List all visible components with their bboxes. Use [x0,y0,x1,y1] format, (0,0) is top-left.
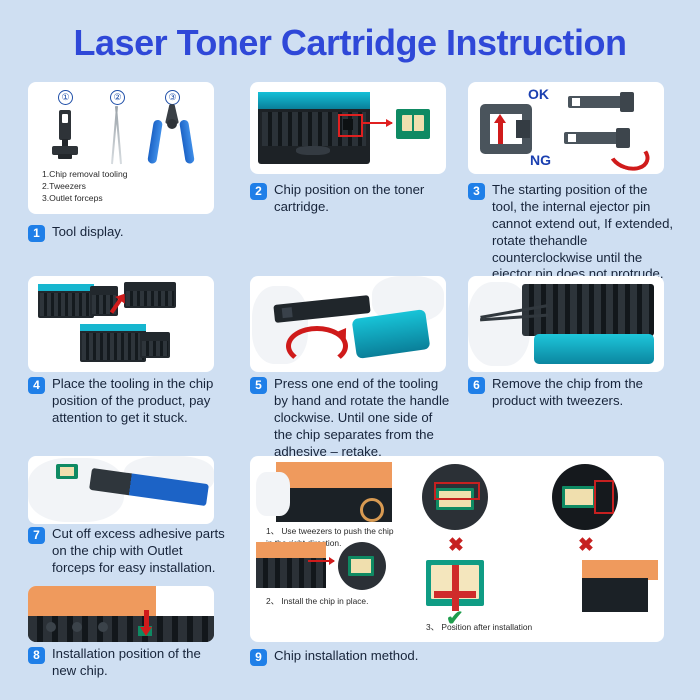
panel-3-caption: 3 The starting position of the tool, the… [468,182,674,283]
ng-label: NG [530,152,551,168]
panel-4-caption: 4 Place the tooling in the chip position… [28,376,224,427]
panel-6-image [468,276,664,372]
rotate-clockwise-arrow-icon [286,326,348,366]
instruction-sheet: Laser Toner Cartridge Instruction ① ② ③ … [0,0,700,700]
step-badge-1: 1 [28,225,45,242]
panel-2-caption-text: Chip position on the toner cartridge. [274,182,450,216]
tooling-placement-view-1 [38,284,94,318]
wrong-mark-icon-right: ✖ [578,536,594,555]
panel-8-image [28,586,214,642]
step-badge-8: 8 [28,647,45,664]
down-arrow-icon [144,610,149,628]
panel-9-caption: 9 Chip installation method. [250,648,510,666]
pointer-arrow-icon [362,122,392,124]
panel-5-caption-text: Press one end of the tooling by hand and… [274,376,450,460]
legend-item-2: 2.Tweezers [42,180,128,192]
tool-number-2: ② [110,90,125,105]
gloved-hand [468,282,530,366]
push-arrow-icon [308,560,334,562]
ok-label: OK [528,86,549,102]
page-title: Laser Toner Cartridge Instruction [0,22,700,64]
legend-item-1: 1.Chip removal tooling [42,168,128,180]
clamp-illustration [480,104,532,154]
tool-ok-position-illustration [568,92,642,112]
chip-location-highlight [338,114,363,137]
panel-1-image: ① ② ③ 1.Chip removal tooling 2.Tweezers … [28,82,214,214]
panel-8-caption: 8 Installation position of the new chip. [28,646,228,680]
step-badge-5: 5 [250,377,267,394]
tooling-placement-view-3 [80,324,146,362]
tool-display-illustration: ① ② ③ [28,88,214,172]
step-badge-4: 4 [28,377,45,394]
substep-2-caption: 2、 Install the chip in place. [266,596,368,608]
outlet-forceps-icon [150,104,194,166]
toner-chip-illustration [396,109,430,139]
panel-4-caption-text: Place the tooling in the chip position o… [52,376,224,427]
panel-2-image [250,82,446,174]
cartridge-body-illustration [522,284,654,336]
drum-illustration [352,309,431,359]
panel-9-caption-text: Chip installation method. [274,648,418,665]
tool-number-3: ③ [165,90,180,105]
legend-item-3: 3.Outlet forceps [42,192,128,204]
tweezers-icon [106,106,128,164]
panel-7-image [28,456,214,524]
panel-2-caption: 2 Chip position on the toner cartridge. [250,182,450,216]
step-badge-2: 2 [250,183,267,200]
substep-3-wrong-circle-middle [422,464,488,530]
panel-5-image [250,276,446,372]
orange-cover-illustration [28,586,156,620]
step-badge-3: 3 [468,183,485,200]
panel-7-caption: 7 Cut off excess adhesive parts on the c… [28,526,228,577]
substep-3-wrong-circle-right [552,464,618,530]
panel-7-caption-text: Cut off excess adhesive parts on the chi… [52,526,228,577]
correct-position-chip [426,560,484,606]
drum-illustration [534,334,654,364]
panel-3-caption-text: The starting position of the tool, the i… [492,182,674,283]
panel-6-caption: 6 Remove the chip from the product with … [468,376,674,410]
step-badge-9: 9 [250,649,267,666]
panel-1-caption: 1 Tool display. [28,224,228,242]
substep-2-detail-circle [338,542,386,590]
tooling-placement-view-2 [124,282,176,308]
tool-number-1: ① [58,90,73,105]
substep-1-photo [256,462,392,522]
wrong-mark-icon-middle: ✖ [448,536,464,555]
panel-1-caption-text: Tool display. [52,224,124,241]
panel-9-image: 1、 Use tweezers to push the chip in the … [250,456,664,642]
roller-dots [46,622,124,632]
substep-2-photo [256,542,326,588]
tooling-placement-detail-2 [140,332,170,358]
panel-3-image: OK NG [468,82,664,174]
panel-8-caption-text: Installation position of the new chip. [52,646,228,680]
chip-removal-tool-icon [52,110,78,162]
panel-4-image [28,276,214,372]
panel-5-caption: 5 Press one end of the tooling by hand a… [250,376,450,460]
substep-3-caption: 3、 Position after installation [426,622,532,634]
chip-illustration [56,464,78,479]
substep-3-cartridge-photo [582,560,658,612]
panel-6-caption-text: Remove the chip from the product with tw… [492,376,674,410]
up-arrow-icon [498,122,503,144]
step-badge-6: 6 [468,377,485,394]
step-badge-7: 7 [28,527,45,544]
tool-legend: 1.Chip removal tooling 2.Tweezers 3.Outl… [42,168,128,205]
